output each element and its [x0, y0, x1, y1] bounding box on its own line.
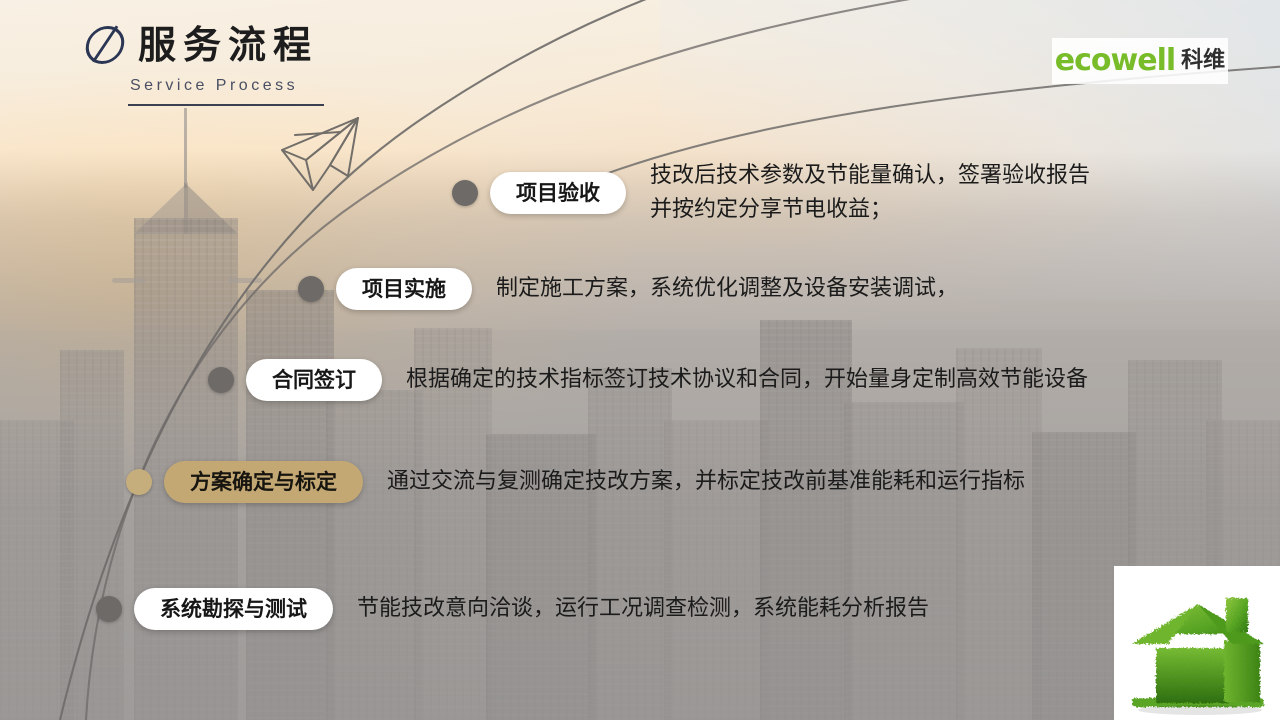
step-description: 制定施工方案，系统优化调整及设备安装调试，	[496, 272, 958, 306]
step-label-pill[interactable]: 方案确定与标定	[164, 461, 363, 503]
step-marker-dot	[96, 596, 122, 622]
slide-canvas: 服务流程 Service Process ecowell 科维 项目验收 技改后…	[0, 0, 1280, 720]
header-divider	[128, 104, 324, 106]
step-description: 通过交流与复测确定技改方案，并标定技改前基准能耗和运行指标	[387, 465, 1025, 499]
step-label-pill[interactable]: 系统勘探与测试	[134, 588, 333, 630]
page-subtitle: Service Process	[130, 77, 324, 95]
step-marker-dot	[298, 276, 324, 302]
step-label-pill[interactable]: 项目实施	[336, 268, 472, 310]
green-house-image-card	[1114, 566, 1280, 720]
step-description-line1: 技改后技术参数及节能量确认，签署验收报告	[650, 159, 1230, 193]
page-header: 服务流程 Service Process	[86, 26, 324, 106]
green-grass-house-icon	[1114, 570, 1280, 720]
brand-logo: ecowell 科维	[1052, 38, 1228, 84]
page-title: 服务流程	[138, 26, 318, 64]
slash-circle-icon	[83, 26, 127, 64]
step-item-project-implementation[interactable]: 项目实施 制定施工方案，系统优化调整及设备安装调试，	[298, 268, 958, 310]
step-marker-dot	[208, 367, 234, 393]
step-item-contract-signing[interactable]: 合同签订 根据确定的技术指标签订技术协议和合同，开始量身定制高效节能设备	[208, 359, 1088, 401]
step-description: 根据确定的技术指标签订技术协议和合同，开始量身定制高效节能设备	[406, 363, 1088, 397]
step-marker-dot	[126, 469, 152, 495]
step-description-line2: 并按约定分享节电收益；	[650, 193, 1230, 227]
step-item-system-survey[interactable]: 系统勘探与测试 节能技改意向洽谈，运行工况调查检测，系统能耗分析报告	[96, 588, 929, 630]
step-description: 技改后技术参数及节能量确认，签署验收报告 并按约定分享节电收益；	[650, 159, 1230, 227]
step-item-plan-confirmation[interactable]: 方案确定与标定 通过交流与复测确定技改方案，并标定技改前基准能耗和运行指标	[126, 461, 1025, 503]
logo-chinese-text: 科维	[1181, 50, 1225, 72]
step-label-pill[interactable]: 项目验收	[490, 172, 626, 214]
step-marker-dot	[452, 180, 478, 206]
step-item-project-acceptance[interactable]: 项目验收 技改后技术参数及节能量确认，签署验收报告 并按约定分享节电收益；	[452, 159, 1230, 227]
logo-english-text: ecowell	[1055, 46, 1175, 76]
step-description: 节能技改意向洽谈，运行工况调查检测，系统能耗分析报告	[357, 592, 929, 626]
step-label-pill[interactable]: 合同签订	[246, 359, 382, 401]
